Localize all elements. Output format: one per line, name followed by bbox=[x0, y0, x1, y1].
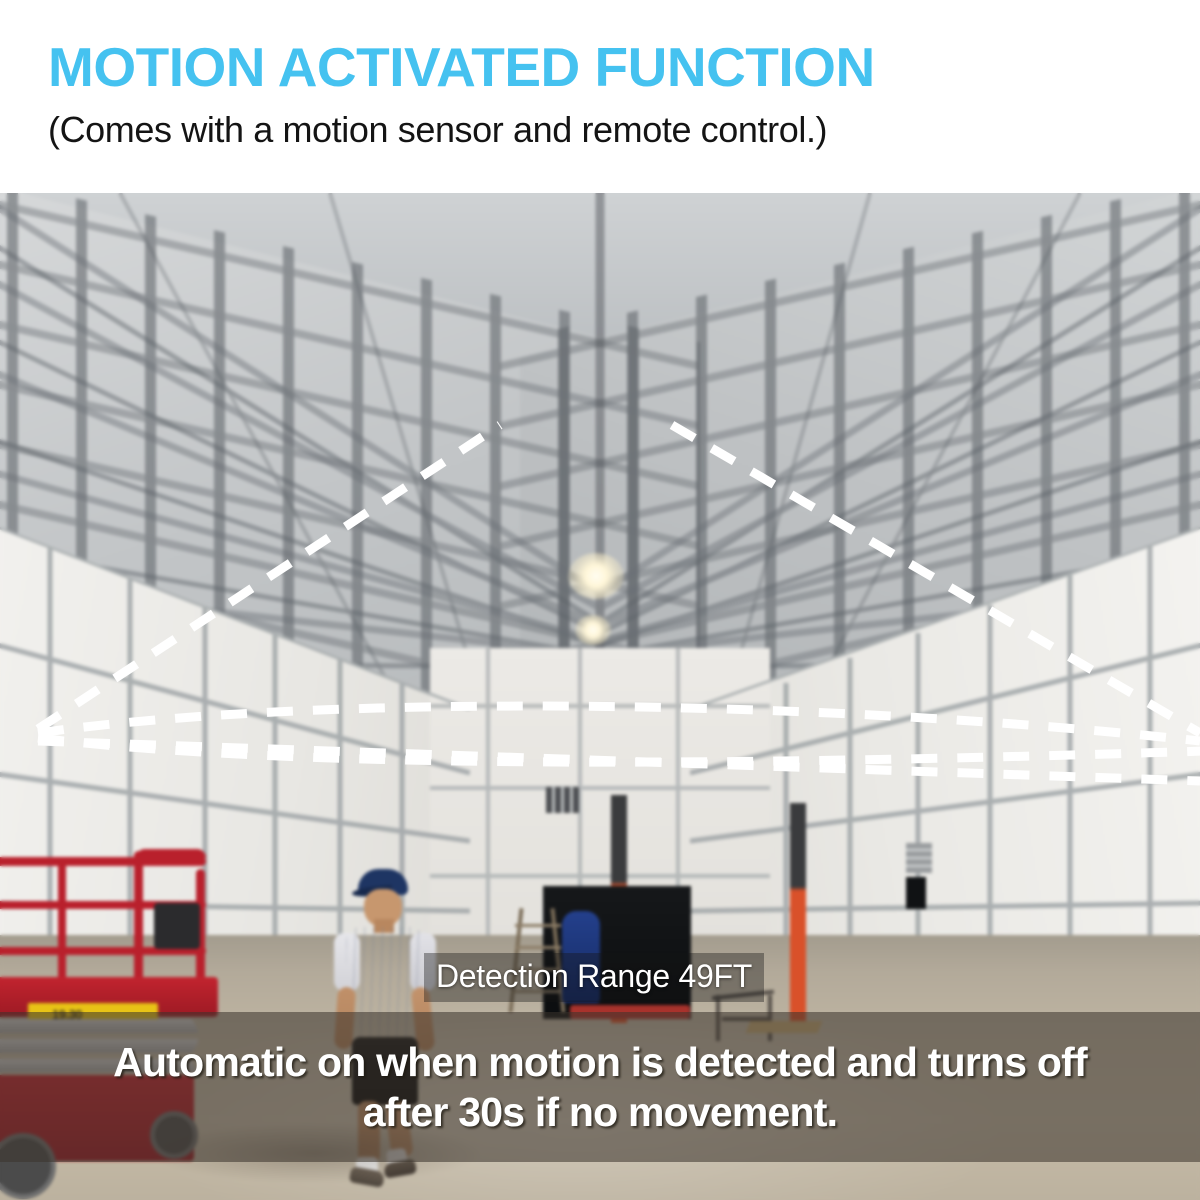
caption-line-2: after 30s if no movement. bbox=[363, 1087, 837, 1137]
promo-card: MOTION ACTIVATED FUNCTION (Comes with a … bbox=[0, 0, 1200, 1200]
detection-line-lens-bottom bbox=[38, 738, 1200, 762]
caption-line-1: Automatic on when motion is detected and… bbox=[113, 1037, 1087, 1087]
detection-line-scan bbox=[38, 741, 1200, 781]
detection-line-upper-left bbox=[38, 425, 500, 729]
caption-band: Automatic on when motion is detected and… bbox=[0, 1012, 1200, 1162]
detection-range-label: Detection Range 49FT bbox=[424, 953, 764, 1002]
page-subtitle: (Comes with a motion sensor and remote c… bbox=[48, 109, 1200, 151]
page-title: MOTION ACTIVATED FUNCTION bbox=[48, 40, 1200, 95]
warehouse-photo: 19.30 bbox=[0, 193, 1200, 1200]
detection-line-upper-right bbox=[672, 425, 1200, 733]
header-block: MOTION ACTIVATED FUNCTION (Comes with a … bbox=[0, 0, 1200, 193]
detection-line-lens-top bbox=[38, 706, 1200, 741]
